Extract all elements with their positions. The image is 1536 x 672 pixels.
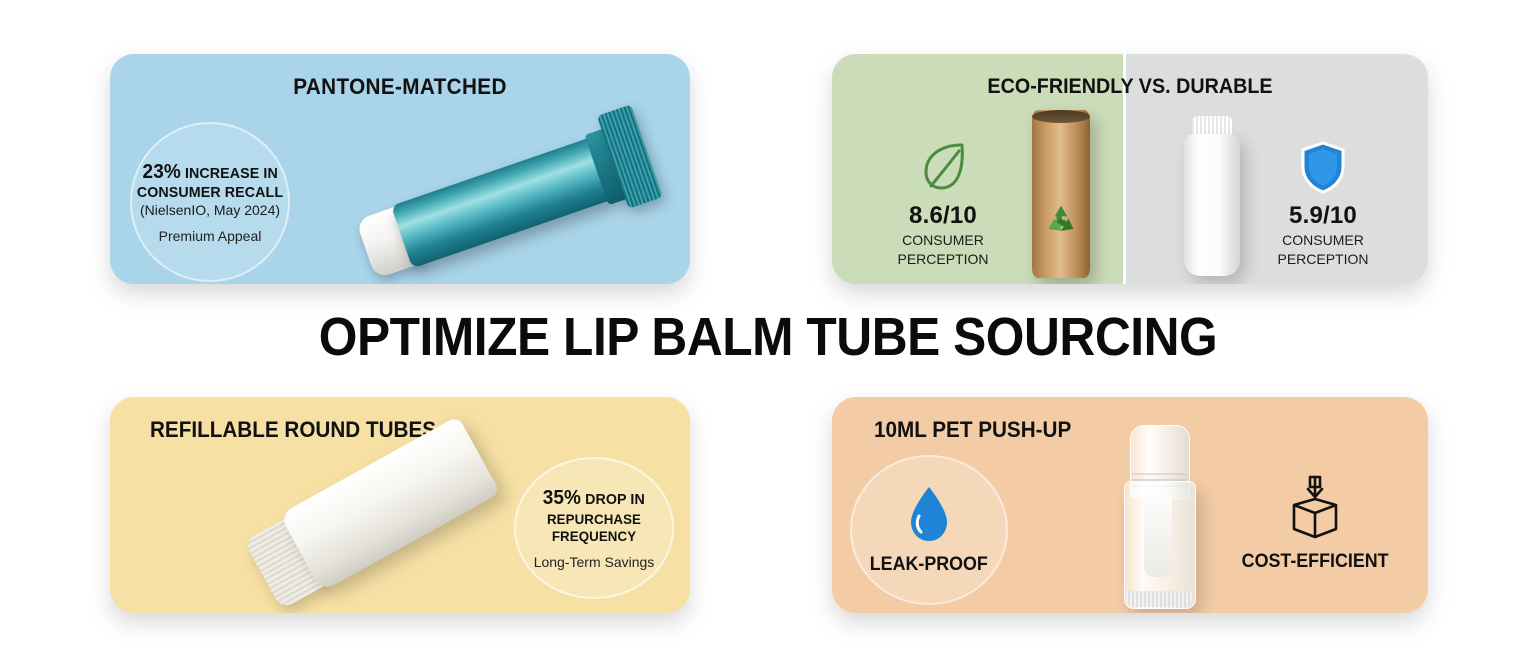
durable-metric-block: 5.9/10 CONSUMER PERCEPTION <box>1248 140 1398 268</box>
pantone-stat-headline: 23% INCREASE IN <box>142 160 277 184</box>
water-drop-icon <box>906 484 952 544</box>
durable-label-line2: PERCEPTION <box>1277 251 1368 268</box>
recycle-icon <box>1043 202 1079 238</box>
refill-stat-line2: REPURCHASE FREQUENCY <box>520 511 668 545</box>
card-eco-vs-durable[interactable]: ECO-FRIENDLY VS. DURABLE 8.6/10 CONSUMER… <box>832 54 1428 284</box>
leak-proof-circle: LEAK-PROOF <box>850 455 1008 605</box>
pantone-stat-line2: CONSUMER RECALL <box>137 184 283 202</box>
shield-icon <box>1299 140 1347 194</box>
cost-efficient-block: COST-EFFICIENT <box>1220 475 1410 573</box>
refill-stat-value: 35% <box>543 487 581 509</box>
leak-proof-caption: LEAK-PROOF <box>870 554 988 576</box>
eco-metric-block: 8.6/10 CONSUMER PERCEPTION <box>868 140 1018 268</box>
white-plastic-tube-icon <box>1184 116 1240 276</box>
pet-push-up-tube-icon <box>1124 425 1194 607</box>
pet-tube-stick <box>1144 491 1172 577</box>
refill-stat-text: DROP IN <box>585 491 645 508</box>
refill-stat-headline: 35% DROP IN <box>543 486 645 510</box>
pantone-stat-note: Premium Appeal <box>159 228 262 244</box>
cost-efficient-caption: COST-EFFICIENT <box>1242 551 1389 573</box>
white-tube-body <box>1184 134 1240 276</box>
pet-tube-foot <box>1126 591 1192 607</box>
page-title: OPTIMIZE LIP BALM TUBE SOURCING <box>61 306 1474 368</box>
durable-score: 5.9/10 <box>1289 202 1357 230</box>
eco-score: 8.6/10 <box>909 202 977 230</box>
kraft-tube-rim <box>1032 110 1090 123</box>
pantone-stat-source: (NielsenIO, May 2024) <box>140 202 280 219</box>
pantone-stat-value: 23% <box>142 161 180 183</box>
teal-squeeze-tube-icon <box>342 80 684 284</box>
kraft-paper-tube-icon <box>1032 110 1090 278</box>
eco-label-line1: CONSUMER <box>902 232 984 249</box>
round-lip-balm-tube-icon <box>241 416 511 613</box>
refill-stat-circle: 35% DROP IN REPURCHASE FREQUENCY Long-Te… <box>514 457 674 599</box>
card-refill-title: REFILLABLE ROUND TUBES <box>150 417 436 443</box>
refill-stat-note: Long-Term Savings <box>534 554 655 570</box>
card-pantone-matched[interactable]: PANTONE-MATCHED 23% INCREASE IN CONSUMER… <box>110 54 690 284</box>
eco-label-line2: PERCEPTION <box>897 251 988 268</box>
durable-label-line1: CONSUMER <box>1282 232 1364 249</box>
card-pet-push-up[interactable]: 10ML PET PUSH-UP LEAK-PROOF COST-EFFICIE… <box>832 397 1428 613</box>
pantone-stat-text: INCREASE IN <box>185 165 278 182</box>
card-pet-title: 10ML PET PUSH-UP <box>874 417 1071 443</box>
card-refillable-round-tubes[interactable]: REFILLABLE ROUND TUBES 35% DROP IN REPUR… <box>110 397 690 613</box>
box-arrow-down-icon <box>1284 475 1346 541</box>
card-eco-title: ECO-FRIENDLY VS. DURABLE <box>850 75 1410 99</box>
leaf-icon <box>917 140 969 194</box>
pantone-stat-circle: 23% INCREASE IN CONSUMER RECALL (Nielsen… <box>130 122 290 282</box>
